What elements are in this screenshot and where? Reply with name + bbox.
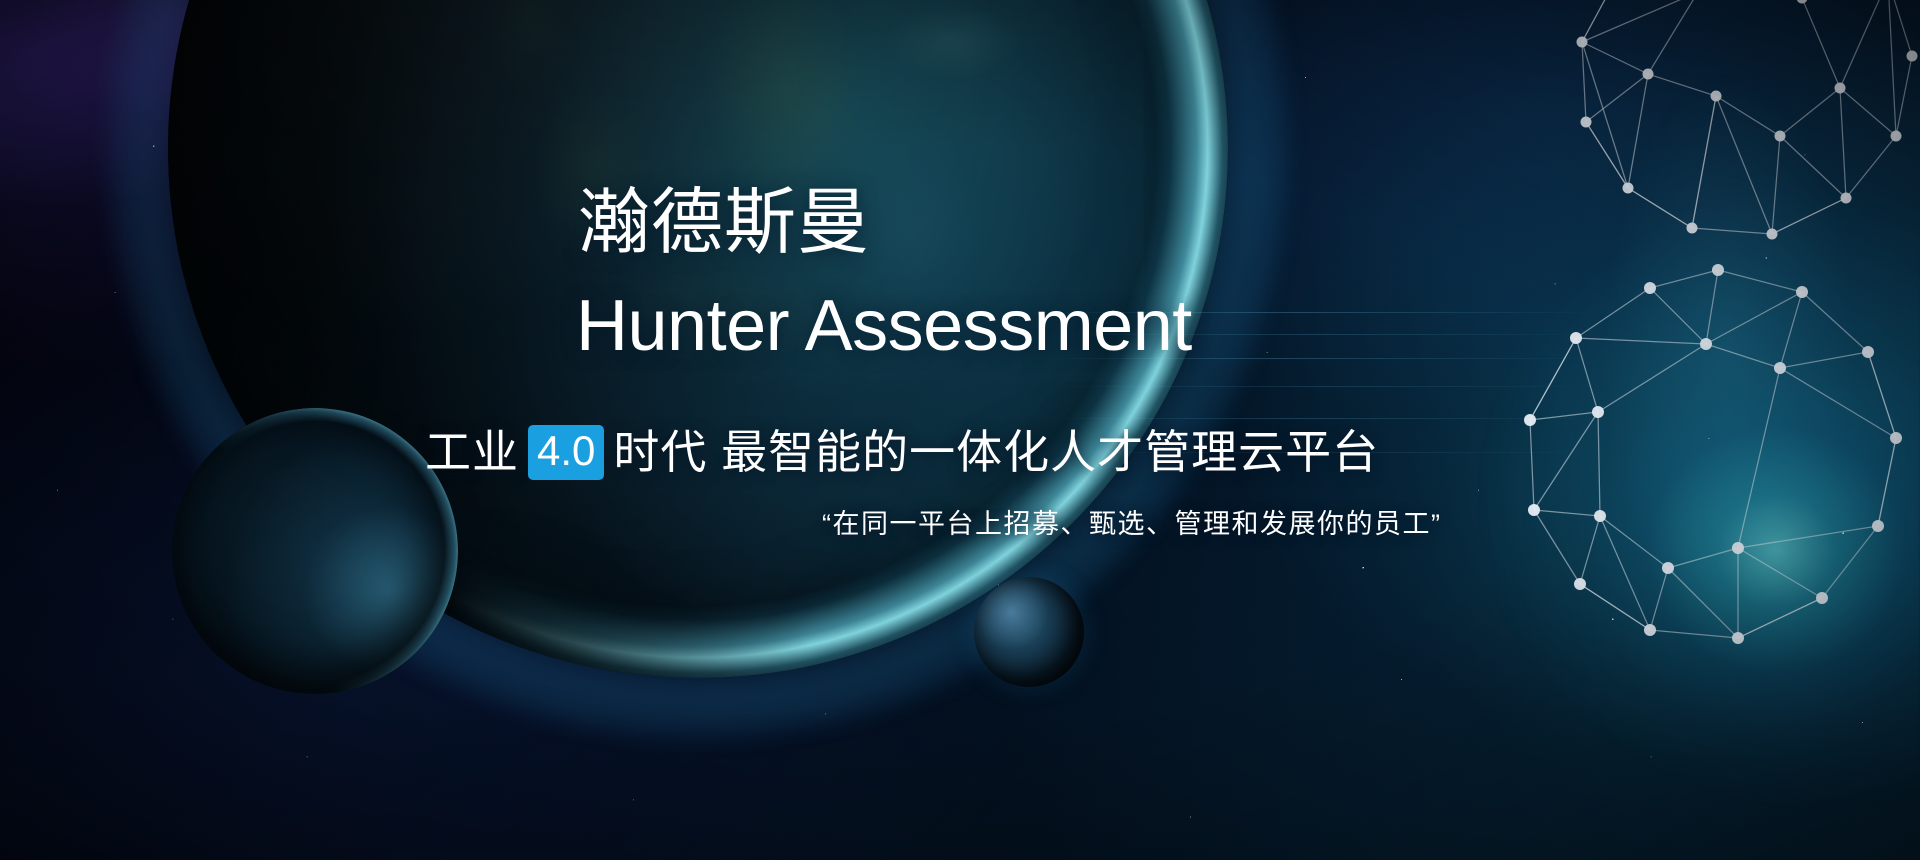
tagline-prefix: 工业: [425, 425, 519, 479]
tagline-quote: “在同一平台上招募、甄选、管理和发展你的员工”: [822, 507, 1441, 542]
tagline-suffix: 时代 最智能的一体化人才管理云平台: [613, 425, 1379, 479]
industry-version-badge: 4.0: [528, 425, 604, 480]
hero-banner: 瀚德斯曼 Hunter Assessment 工业 4.0 时代 最智能的一体化…: [0, 0, 1920, 860]
brand-title-english: Hunter Assessment: [576, 290, 1192, 362]
brand-title-chinese: 瀚德斯曼: [578, 187, 870, 259]
hero-content: 瀚德斯曼 Hunter Assessment 工业 4.0 时代 最智能的一体化…: [0, 0, 1920, 860]
tagline: 工业 4.0 时代 最智能的一体化人才管理云平台: [425, 425, 1379, 480]
